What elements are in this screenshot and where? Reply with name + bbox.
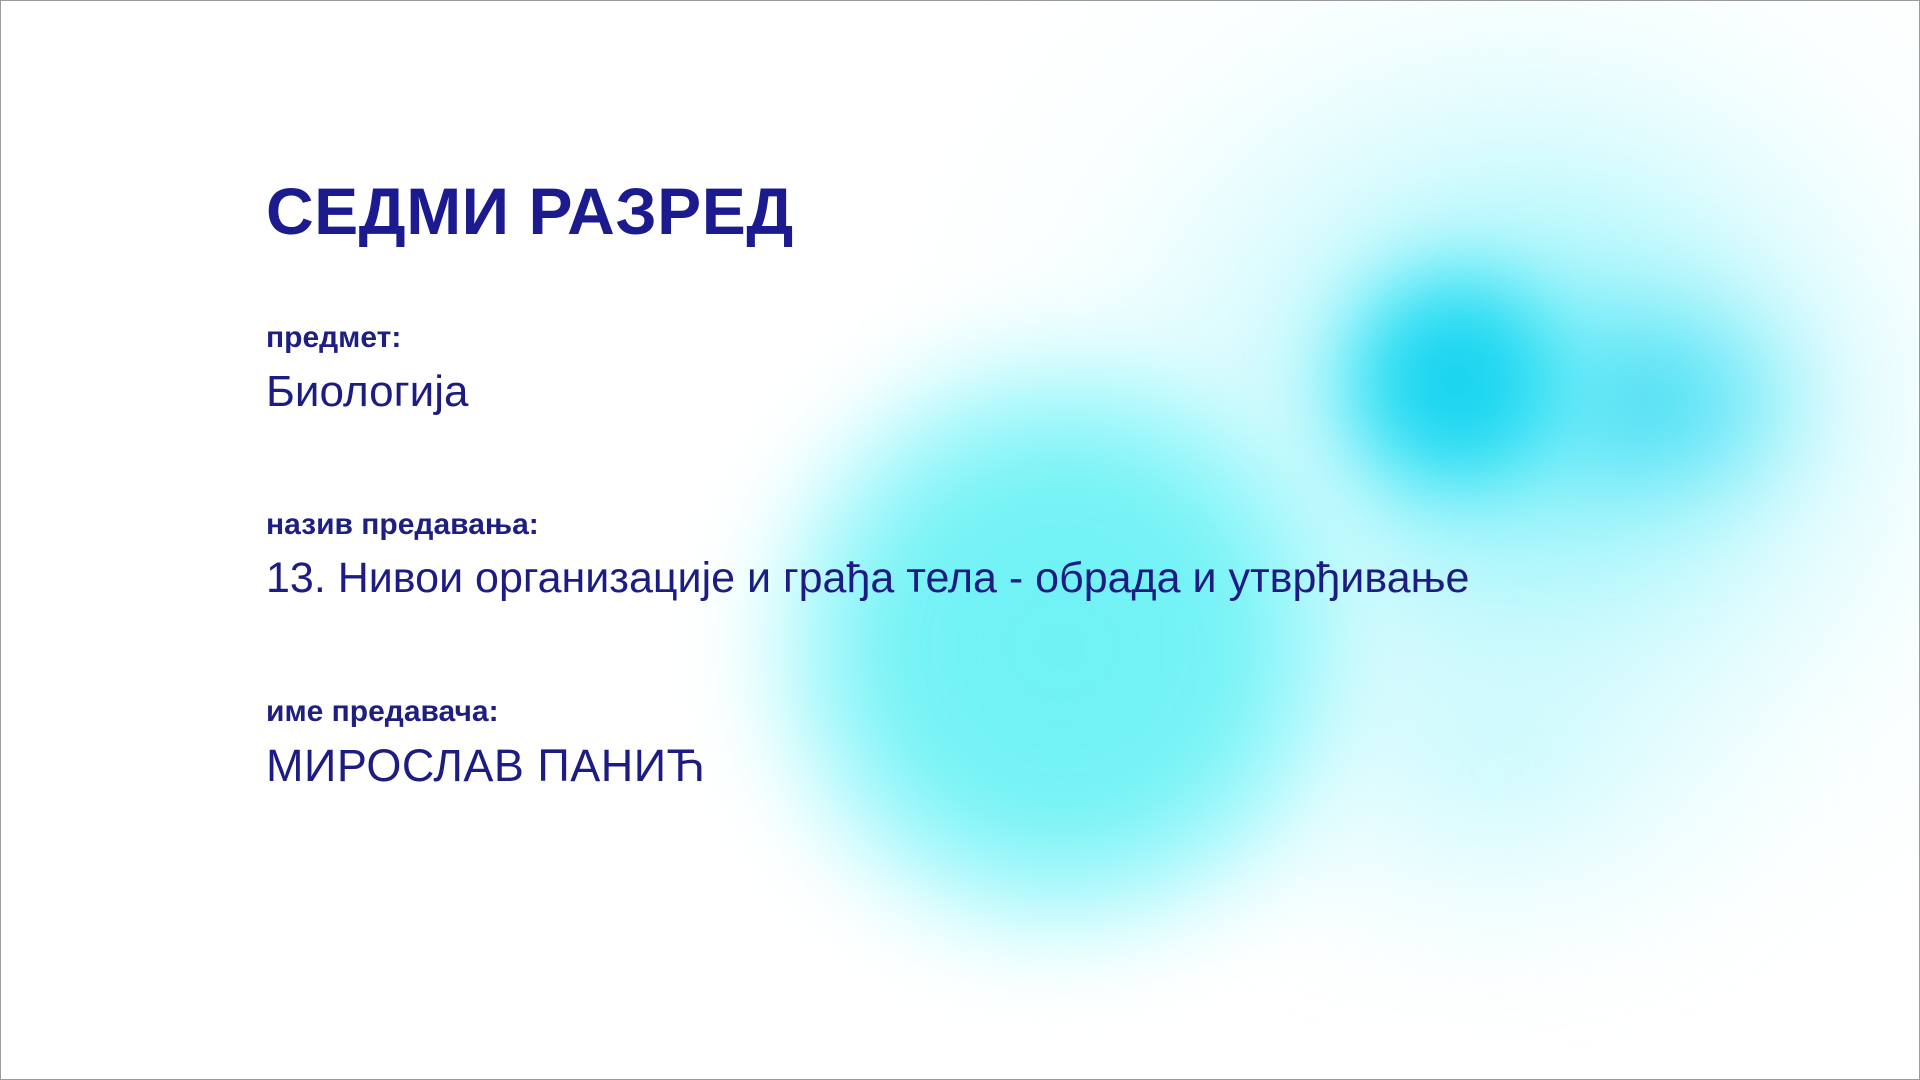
presenter-value: МИРОСЛАВ ПАНИЋ	[266, 741, 706, 791]
subject-label: предмет:	[266, 319, 468, 357]
lecture-title-label: назив предавања:	[266, 506, 1469, 544]
slide-content: СЕДМИ РАЗРЕД предмет: Биологија назив пр…	[266, 1, 1886, 1079]
presenter-label: име предавача:	[266, 693, 706, 731]
slide-title: СЕДМИ РАЗРЕД	[266, 178, 794, 244]
field-subject: предмет: Биологија	[266, 319, 468, 416]
field-presenter: име предавача: МИРОСЛАВ ПАНИЋ	[266, 693, 706, 791]
lecture-title-value: 13. Нивои организације и грађа тела - об…	[266, 554, 1469, 602]
field-lecture-title: назив предавања: 13. Нивои организације …	[266, 506, 1469, 602]
title-slide: СЕДМИ РАЗРЕД предмет: Биологија назив пр…	[0, 0, 1920, 1080]
subject-value: Биологија	[266, 367, 468, 416]
